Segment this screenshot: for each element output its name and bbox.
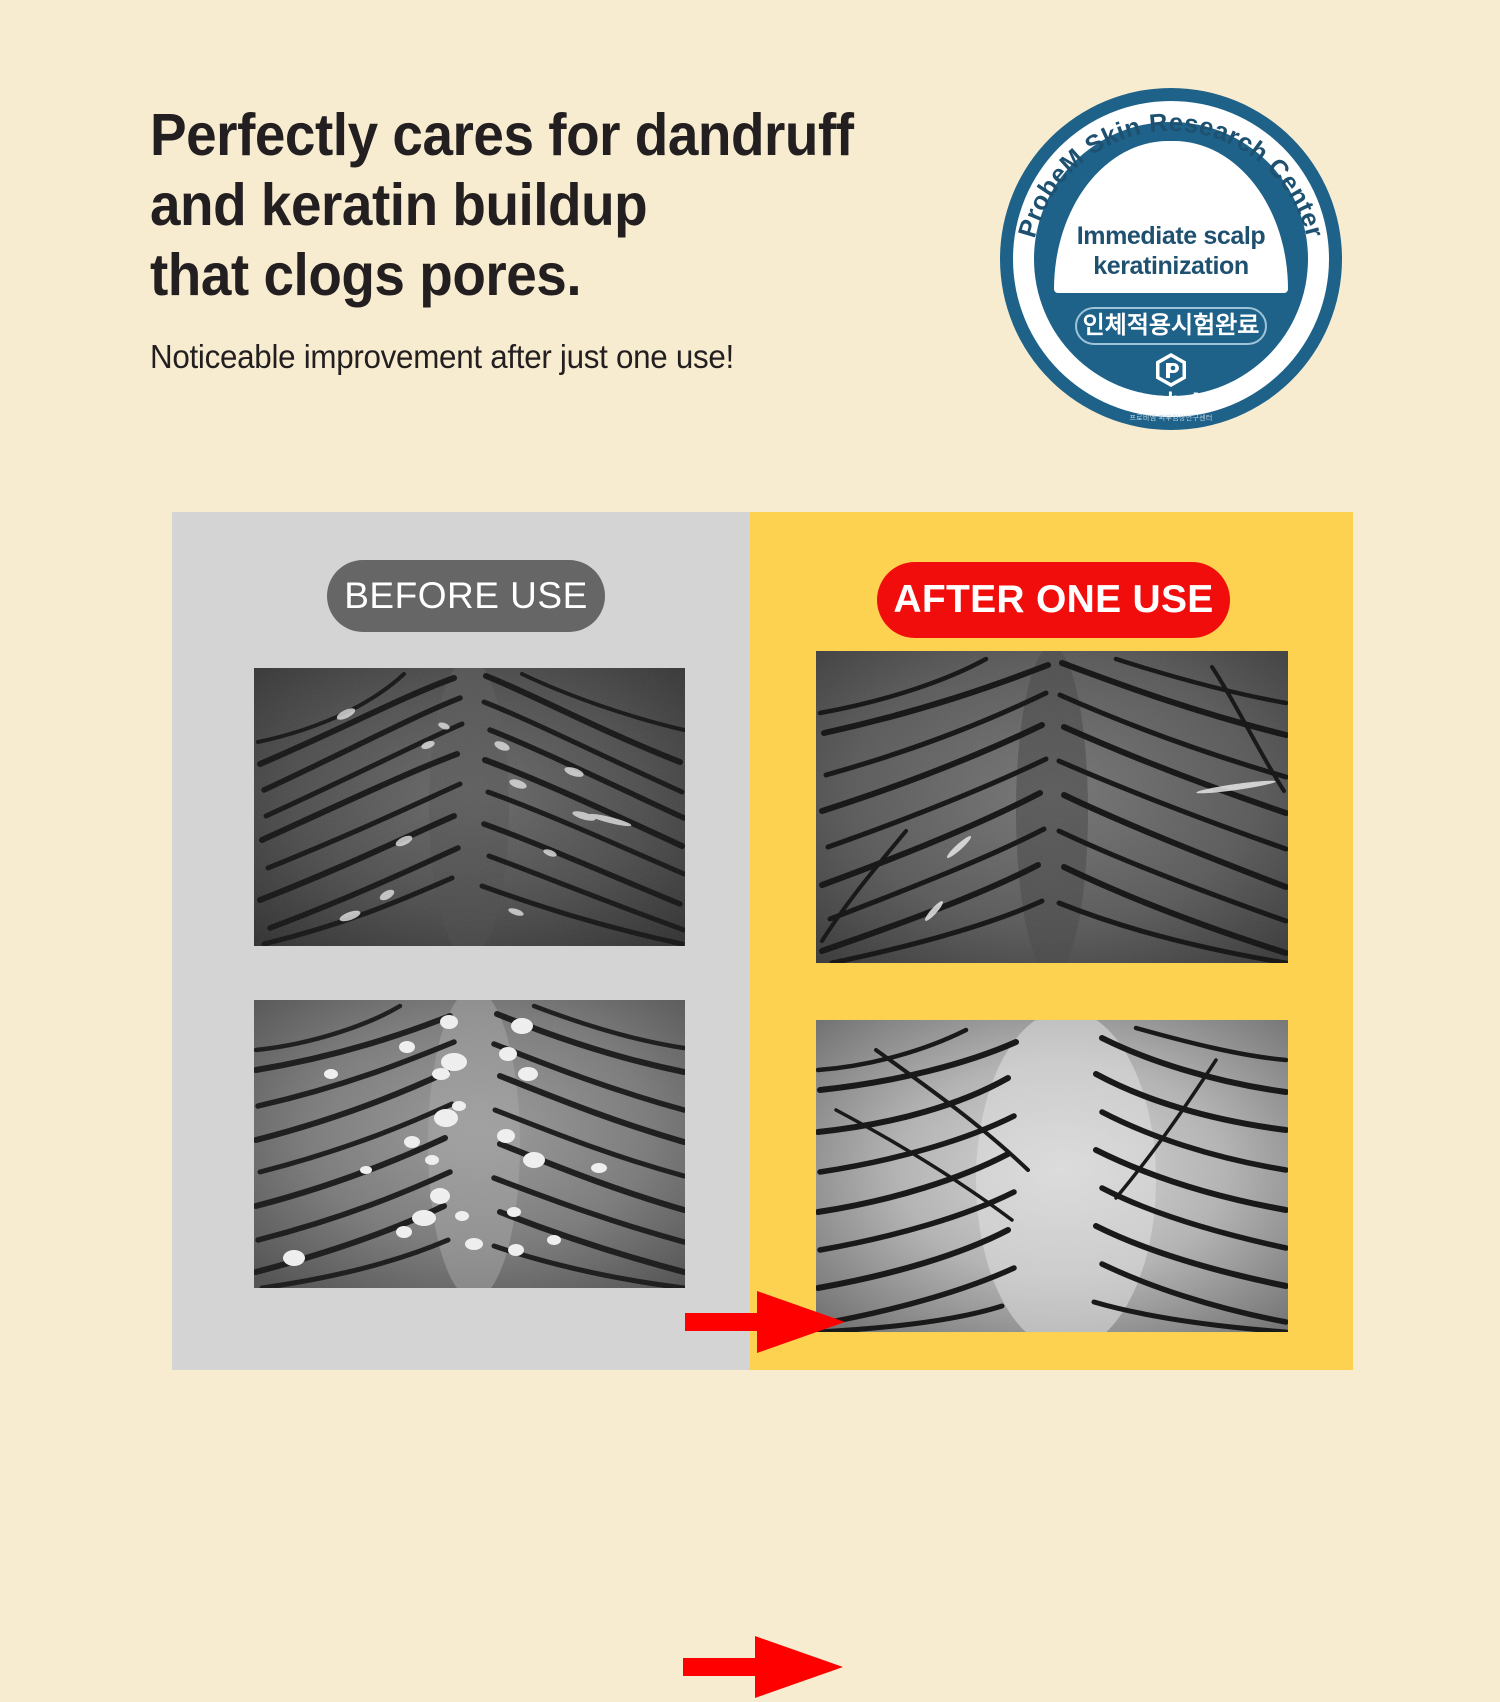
before-scalp-photo-2	[254, 1000, 685, 1288]
probem-logo-subtext: 프로비엠 피부임상연구센터	[1000, 415, 1342, 422]
hexagon-logo-icon	[1154, 352, 1188, 388]
after-scalp-photo-1	[816, 651, 1288, 963]
scalp-microscope-image	[254, 1000, 685, 1288]
after-scalp-photo-2	[816, 1020, 1288, 1332]
after-one-use-label: AFTER ONE USE	[877, 562, 1230, 638]
headline-line-3: that clogs pores.	[150, 240, 931, 310]
badge-claim-line-2: keratinization	[1093, 252, 1249, 280]
headline-line-1: Perfectly cares for dandruff	[150, 100, 931, 170]
transition-arrow-icon-2	[683, 1632, 843, 1702]
badge-claim-line-1: Immediate scalp	[1077, 222, 1266, 250]
scalp-microscope-image	[816, 651, 1288, 963]
scalp-microscope-image	[254, 668, 685, 946]
before-scalp-photo-1	[254, 668, 685, 946]
badge-claim-text: Immediate scalp keratinization	[1054, 222, 1288, 281]
before-use-label: BEFORE USE	[327, 560, 605, 632]
page-title: Perfectly cares for dandruff and keratin…	[150, 100, 931, 311]
probem-logo: ProbeM 프로비엠 피부임상연구센터	[1000, 352, 1342, 422]
headline-block: Perfectly cares for dandruff and keratin…	[150, 100, 990, 376]
headline-line-2: and keratin buildup	[150, 170, 931, 240]
before-after-comparison: BEFORE USE AFTER ONE USE	[172, 512, 1353, 1370]
badge-korean-pill: 인체적용시험완료	[1075, 307, 1267, 345]
scalp-microscope-image	[816, 1020, 1288, 1332]
subheadline: Noticeable improvement after just one us…	[150, 338, 948, 376]
certification-badge: ProbeM Skin Research Center Immediate sc…	[1000, 88, 1342, 430]
probem-logo-name: ProbeM	[1132, 389, 1210, 412]
transition-arrow-icon-1	[685, 1287, 845, 1357]
badge-korean-label: 인체적용시험완료	[1083, 314, 1260, 338]
